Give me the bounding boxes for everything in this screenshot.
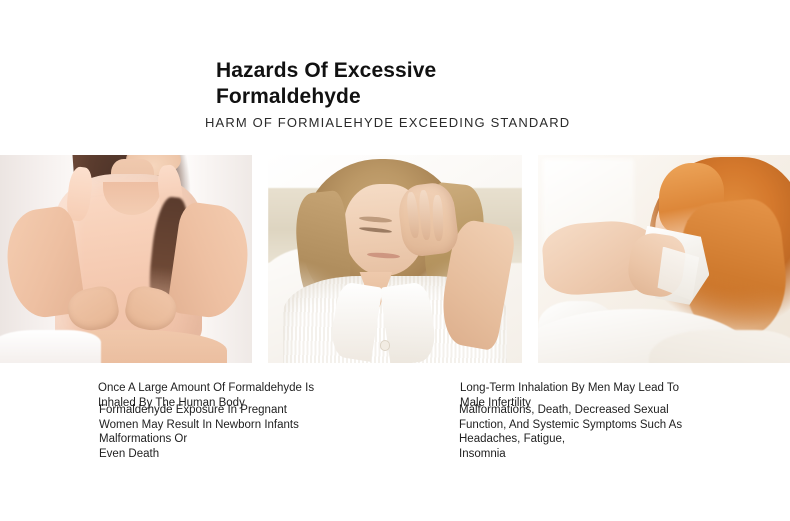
girl-tissue-photo [538, 155, 790, 363]
page-subtitle: HARM OF FORMIALEHYDE EXCEEDING STANDARD [205, 115, 570, 130]
caption-right-secondary: Malformations, Death, Decreased Sexual F… [459, 403, 729, 462]
page-title: Hazards Of Excessive Formaldehyde [216, 58, 506, 109]
photo-strip [0, 155, 790, 363]
photo-3-artwork [538, 155, 790, 363]
woman-headache-photo [268, 155, 522, 363]
photo-2-button [380, 340, 391, 351]
woman-abdominal-pain-photo [0, 155, 252, 363]
photo-1-artwork [0, 155, 252, 363]
caption-left-secondary: Formaldehyde Exposure In Pregnant Women … [99, 403, 374, 462]
photo-1-bedsheet [0, 330, 101, 363]
caption-area: Once A Large Amount Of Formaldehyde Is I… [0, 363, 790, 521]
photo-2-artwork [268, 155, 522, 363]
